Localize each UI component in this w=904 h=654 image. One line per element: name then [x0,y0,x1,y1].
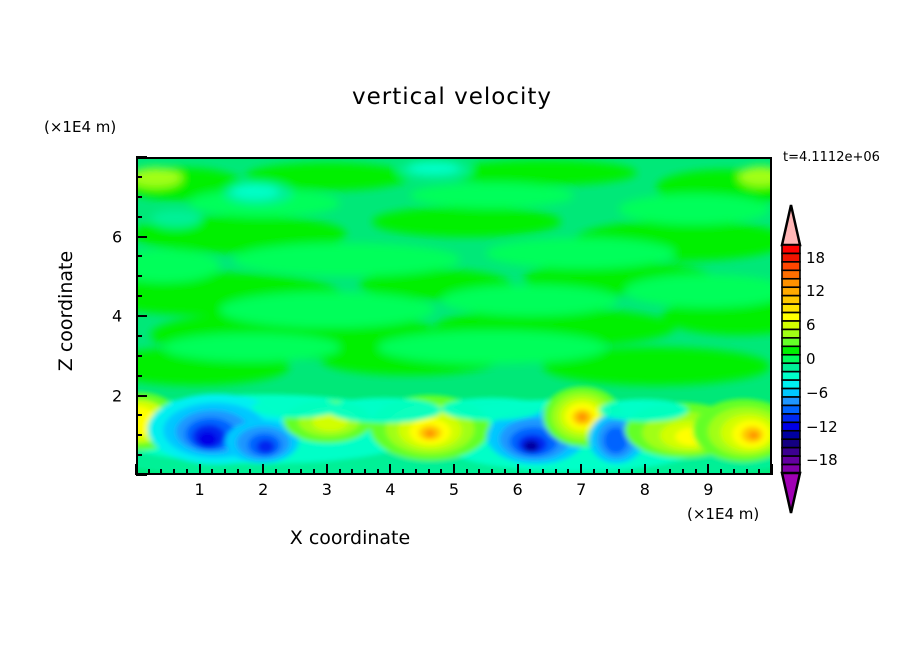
colorbar-band [782,321,800,329]
colorbar-band [782,355,800,363]
x-minor-tick [211,469,213,475]
colorbar-band [782,253,800,261]
x-axis-unit-label: (×1E4 m) [687,505,759,523]
y-minor-tick [136,176,142,178]
x-tick-label: 1 [195,480,205,499]
x-minor-tick [173,469,175,475]
colorbar-band [782,363,800,371]
colorbar-band [782,465,800,473]
colorbar-band [782,245,800,253]
time-annotation: t=4.1112e+06 [783,150,880,165]
colorbar-band [782,346,800,354]
x-major-tick [326,464,328,475]
y-axis-title: Z coordinate [55,221,77,401]
y-minor-tick [136,196,142,198]
x-minor-tick [415,469,417,475]
y-minor-tick [136,295,142,297]
x-minor-tick [555,469,557,475]
x-tick-label: 5 [449,480,459,499]
x-tick-label: 2 [258,480,268,499]
colorbar-tick-label: 6 [806,316,816,334]
contour-plot-area [136,157,772,475]
page-title: vertical velocity [0,84,904,110]
x-minor-tick [237,469,239,475]
y-minor-tick [136,454,142,456]
x-minor-tick [377,469,379,475]
x-minor-tick [593,469,595,475]
x-tick-label: 3 [322,480,332,499]
colorbar-band [782,296,800,304]
x-minor-tick [758,469,760,475]
x-major-tick [580,464,582,475]
x-minor-tick [313,469,315,475]
x-major-tick [262,464,264,475]
colorbar-band [782,338,800,346]
x-minor-tick [720,469,722,475]
y-tick-label: 6 [112,227,122,246]
x-minor-tick [440,469,442,475]
colorbar-tick-label: −6 [806,384,828,402]
x-minor-tick [339,469,341,475]
y-major-tick [136,395,147,397]
y-minor-tick [136,335,142,337]
x-minor-tick [491,469,493,475]
x-tick-label: 9 [703,480,713,499]
x-minor-tick [669,469,671,475]
x-minor-tick [364,469,366,475]
x-major-tick [644,464,646,475]
x-minor-tick [504,469,506,475]
x-minor-tick [542,469,544,475]
y-minor-tick [136,275,142,277]
colorbar-band [782,313,800,321]
x-minor-tick [249,469,251,475]
colorbar-band [782,329,800,337]
colorbar-band [782,439,800,447]
colorbar-band [782,270,800,278]
y-major-tick [136,474,147,476]
x-minor-tick [288,469,290,475]
x-minor-tick [275,469,277,475]
x-major-tick [389,464,391,475]
x-tick-label: 8 [640,480,650,499]
colorbar-band [782,287,800,295]
x-minor-tick [567,469,569,475]
colorbar-band [782,405,800,413]
y-minor-tick [136,355,142,357]
x-minor-tick [746,469,748,475]
y-major-tick [136,315,147,317]
colorbar-band [782,304,800,312]
x-minor-tick [618,469,620,475]
y-major-tick [136,236,147,238]
colorbar-under-cap [782,473,800,513]
colorbar-band [782,397,800,405]
y-minor-tick [136,255,142,257]
colorbar-band [782,372,800,380]
colorbar-tick-label: 18 [806,249,825,267]
x-minor-tick [657,469,659,475]
x-tick-label: 6 [513,480,523,499]
colorbar-band [782,414,800,422]
x-minor-tick [428,469,430,475]
x-minor-tick [351,469,353,475]
x-minor-tick [631,469,633,475]
colorbar-band [782,389,800,397]
x-major-tick [453,464,455,475]
x-minor-tick [148,469,150,475]
colorbar-band [782,456,800,464]
y-minor-tick [136,375,142,377]
colorbar-tick-label: −18 [806,451,838,469]
x-major-tick [707,464,709,475]
colorbar-tick-label: −12 [806,418,838,436]
x-minor-tick [695,469,697,475]
y-tick-label: 4 [112,307,122,326]
x-minor-tick [300,469,302,475]
x-tick-label: 7 [576,480,586,499]
x-minor-tick [606,469,608,475]
x-minor-tick [466,469,468,475]
x-minor-tick [733,469,735,475]
colorbar-band [782,448,800,456]
x-minor-tick [402,469,404,475]
colorbar-tick-label: 12 [806,282,825,300]
contour-field [138,159,770,473]
x-major-tick [199,464,201,475]
y-minor-tick [136,434,142,436]
x-minor-tick [186,469,188,475]
y-minor-tick [136,216,142,218]
colorbar-band [782,431,800,439]
x-minor-tick [529,469,531,475]
x-minor-tick [682,469,684,475]
x-minor-tick [224,469,226,475]
colorbar-band [782,279,800,287]
y-minor-tick [136,414,142,416]
x-major-tick [771,464,773,475]
x-axis-title: X coordinate [0,527,700,549]
x-major-tick [517,464,519,475]
x-minor-tick [478,469,480,475]
y-axis-unit-label: (×1E4 m) [44,118,116,136]
colorbar-band [782,262,800,270]
colorbar-band [782,380,800,388]
colorbar-tick-label: 0 [806,350,816,368]
colorbar-over-cap [782,205,800,245]
colorbar-band [782,422,800,430]
y-major-tick [136,156,147,158]
x-minor-tick [160,469,162,475]
y-tick-label: 2 [112,386,122,405]
x-tick-label: 4 [385,480,395,499]
